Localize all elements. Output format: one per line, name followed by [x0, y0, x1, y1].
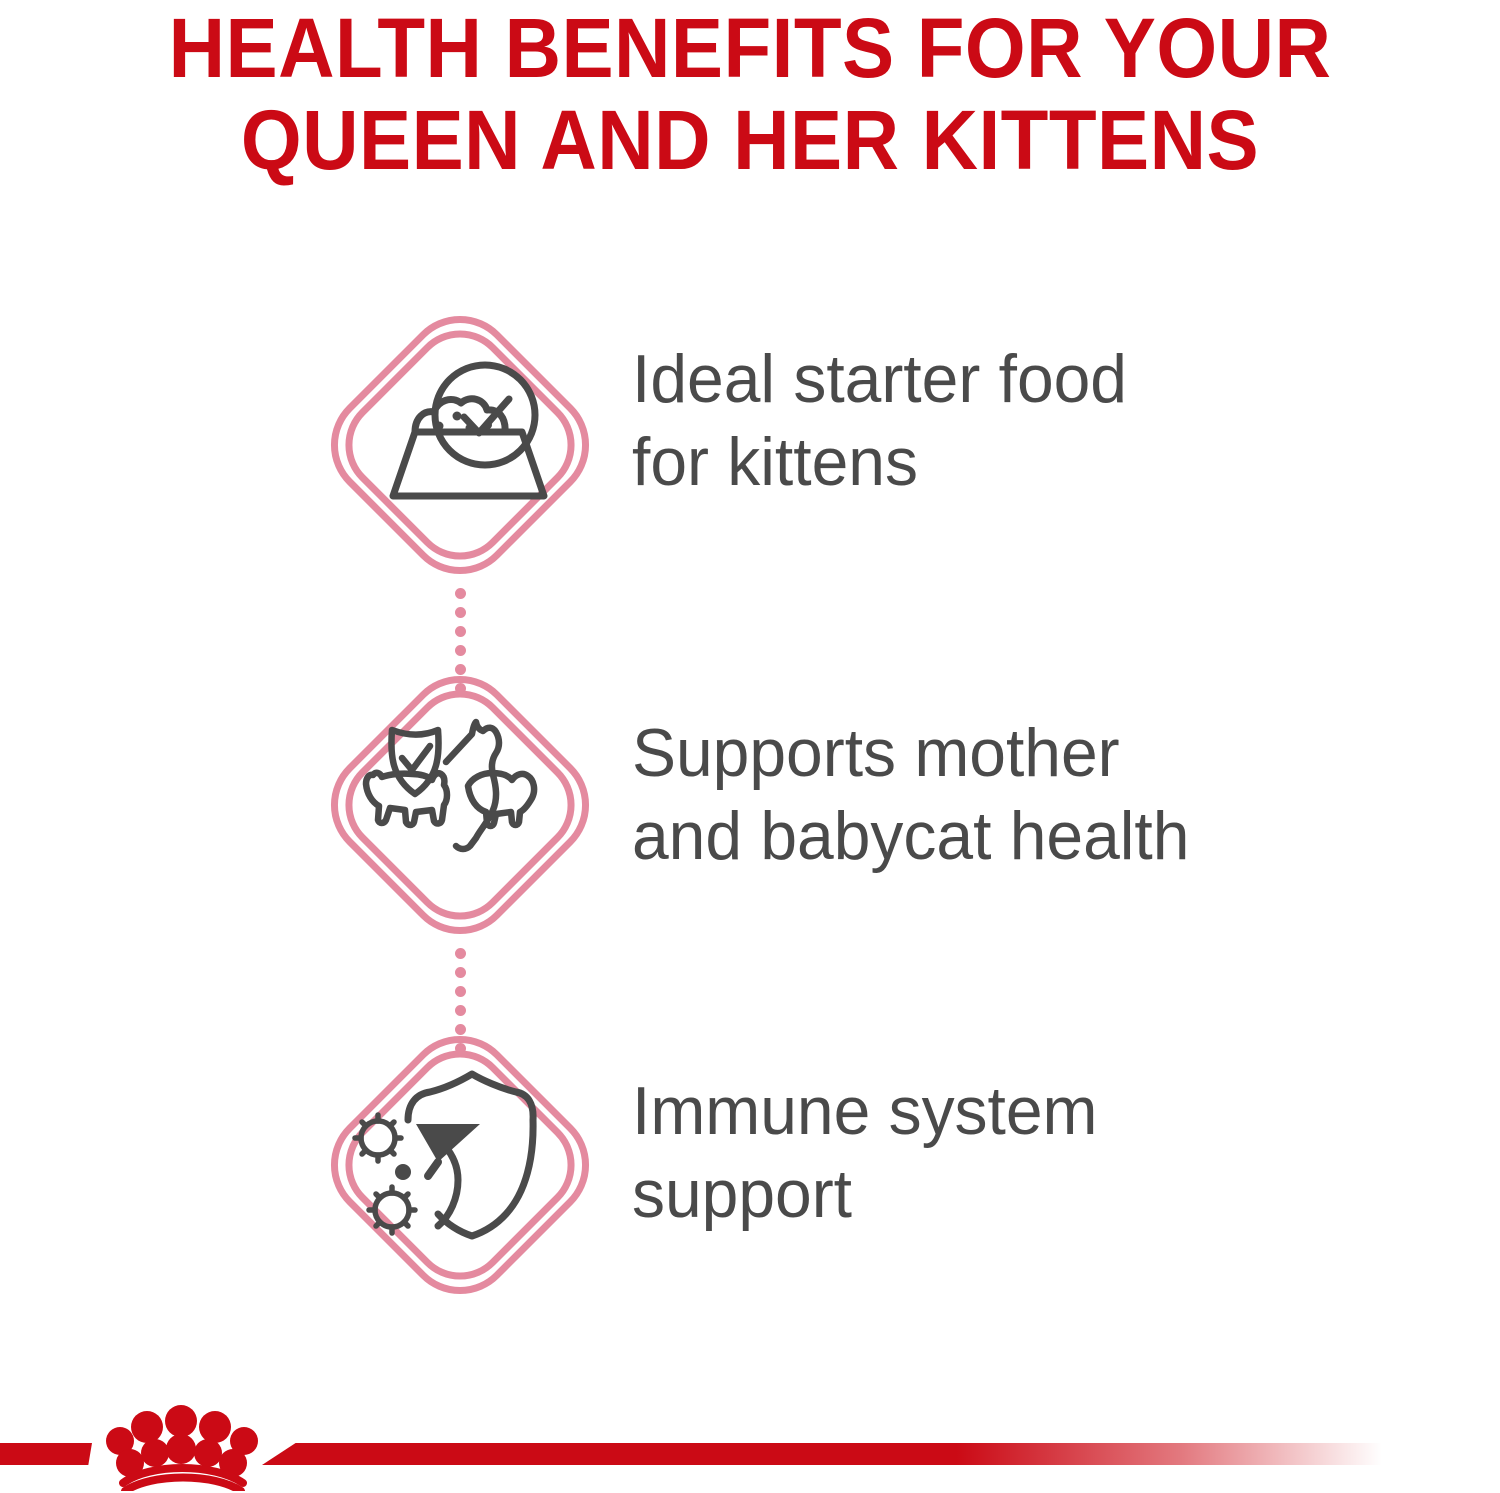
- benefit-text-line-1: Supports mother: [632, 712, 1437, 795]
- footer-bar-left: [0, 1443, 92, 1465]
- benefit-text: Supports mother and babycat health: [632, 712, 1437, 878]
- benefit-text: Immune system support: [632, 1070, 1437, 1236]
- connector-dots: [452, 588, 468, 666]
- benefit-text: Ideal starter food for kittens: [632, 338, 1437, 504]
- food-bowl-check-icon: [320, 300, 600, 590]
- footer: [0, 1390, 1500, 1493]
- royal-canin-crown-logo: [100, 1391, 266, 1491]
- benefits-list: Ideal starter food for kittens: [0, 300, 1500, 1380]
- footer-bar-right: [262, 1443, 1382, 1465]
- benefit-text-line-1: Ideal starter food: [632, 338, 1437, 421]
- benefit-item: Supports mother and babycat health: [0, 660, 1500, 1020]
- benefit-text-line-2: and babycat health: [632, 795, 1437, 878]
- page-title: HEALTH BENEFITS FOR YOUR QUEEN AND HER K…: [0, 2, 1500, 186]
- connector-dots: [452, 948, 468, 1026]
- shield-germs-immune-icon: [320, 1020, 600, 1310]
- benefit-item: Immune system support: [0, 1020, 1500, 1380]
- benefit-text-line-2: for kittens: [632, 421, 1437, 504]
- title-line-2: QUEEN AND HER KITTENS: [53, 94, 1448, 186]
- benefit-item: Ideal starter food for kittens: [0, 300, 1500, 660]
- mother-cat-kittens-shield-icon: [320, 660, 600, 950]
- benefit-text-line-2: support: [632, 1153, 1437, 1236]
- title-line-1: HEALTH BENEFITS FOR YOUR: [53, 2, 1448, 94]
- infographic-page: HEALTH BENEFITS FOR YOUR QUEEN AND HER K…: [0, 0, 1500, 1493]
- benefit-text-line-1: Immune system: [632, 1070, 1437, 1153]
